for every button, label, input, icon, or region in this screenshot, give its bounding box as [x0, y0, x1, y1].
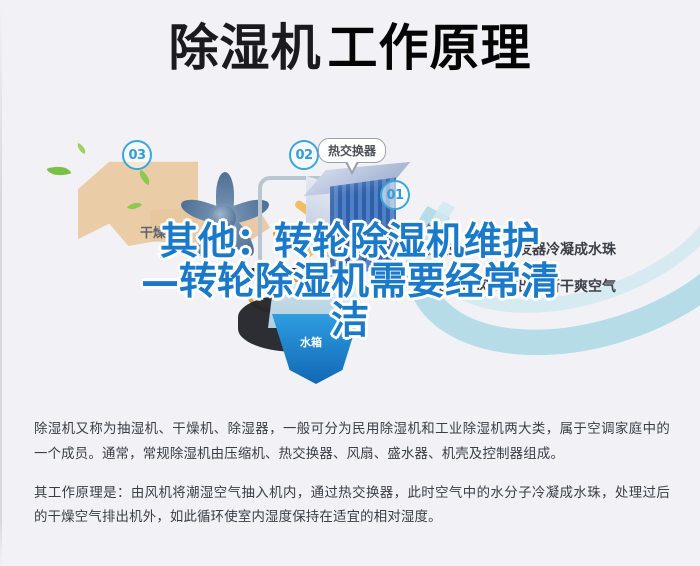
legend-badge-02: 02 — [392, 238, 413, 259]
page-title: 除湿机 工作原理 — [0, 22, 700, 75]
diagram-badge-03: 03 — [122, 140, 152, 170]
diagram-badge-01: 01 — [380, 180, 410, 210]
leaf-icon — [47, 162, 72, 180]
infographic-page: 除湿机 工作原理 水箱 — [0, 0, 700, 566]
legend-text-03: 从上部出风口吹出清新干爽空气 — [420, 276, 616, 296]
water-tank-label: 水箱 — [300, 334, 322, 350]
dry-air-caption: 干燥空气 — [140, 222, 192, 241]
legend-text-02: 潮湿空气经过蒸发器冷凝成水珠 — [420, 239, 616, 259]
heat-exchanger-callout: 热交换器 — [318, 138, 386, 163]
legend-item: 03 从上部出风口吹出清新干爽空气 — [392, 275, 692, 296]
diagram-badge-02: 02 — [289, 140, 319, 170]
leaf-icon — [75, 143, 88, 154]
legend-badge-03: 03 — [392, 275, 413, 296]
title-part-dehumidifier: 除湿机 — [169, 22, 322, 75]
legend-list: 02 潮湿空气经过蒸发器冷凝成水珠 03 从上部出风口吹出清新干爽空气 — [392, 238, 692, 312]
humid-air-caption: 潮湿空气 — [386, 220, 438, 239]
paragraph-working-principle: 其工作原理是：由风机将潮湿空气抽入机内，通过热交换器，此时空气中的水分子冷凝成水… — [34, 482, 670, 532]
paragraph-definition: 除湿机又称为抽湿机、干燥机、除湿器，一般可分为民用除湿机和工业除湿机两大类，属于… — [34, 418, 670, 468]
body-copy: 除湿机又称为抽湿机、干燥机、除湿器，一般可分为民用除湿机和工业除湿机两大类，属于… — [34, 418, 670, 531]
title-part-working-principle: 工作原理 — [328, 22, 532, 75]
legend-item: 02 潮湿空气经过蒸发器冷凝成水珠 — [392, 238, 692, 259]
